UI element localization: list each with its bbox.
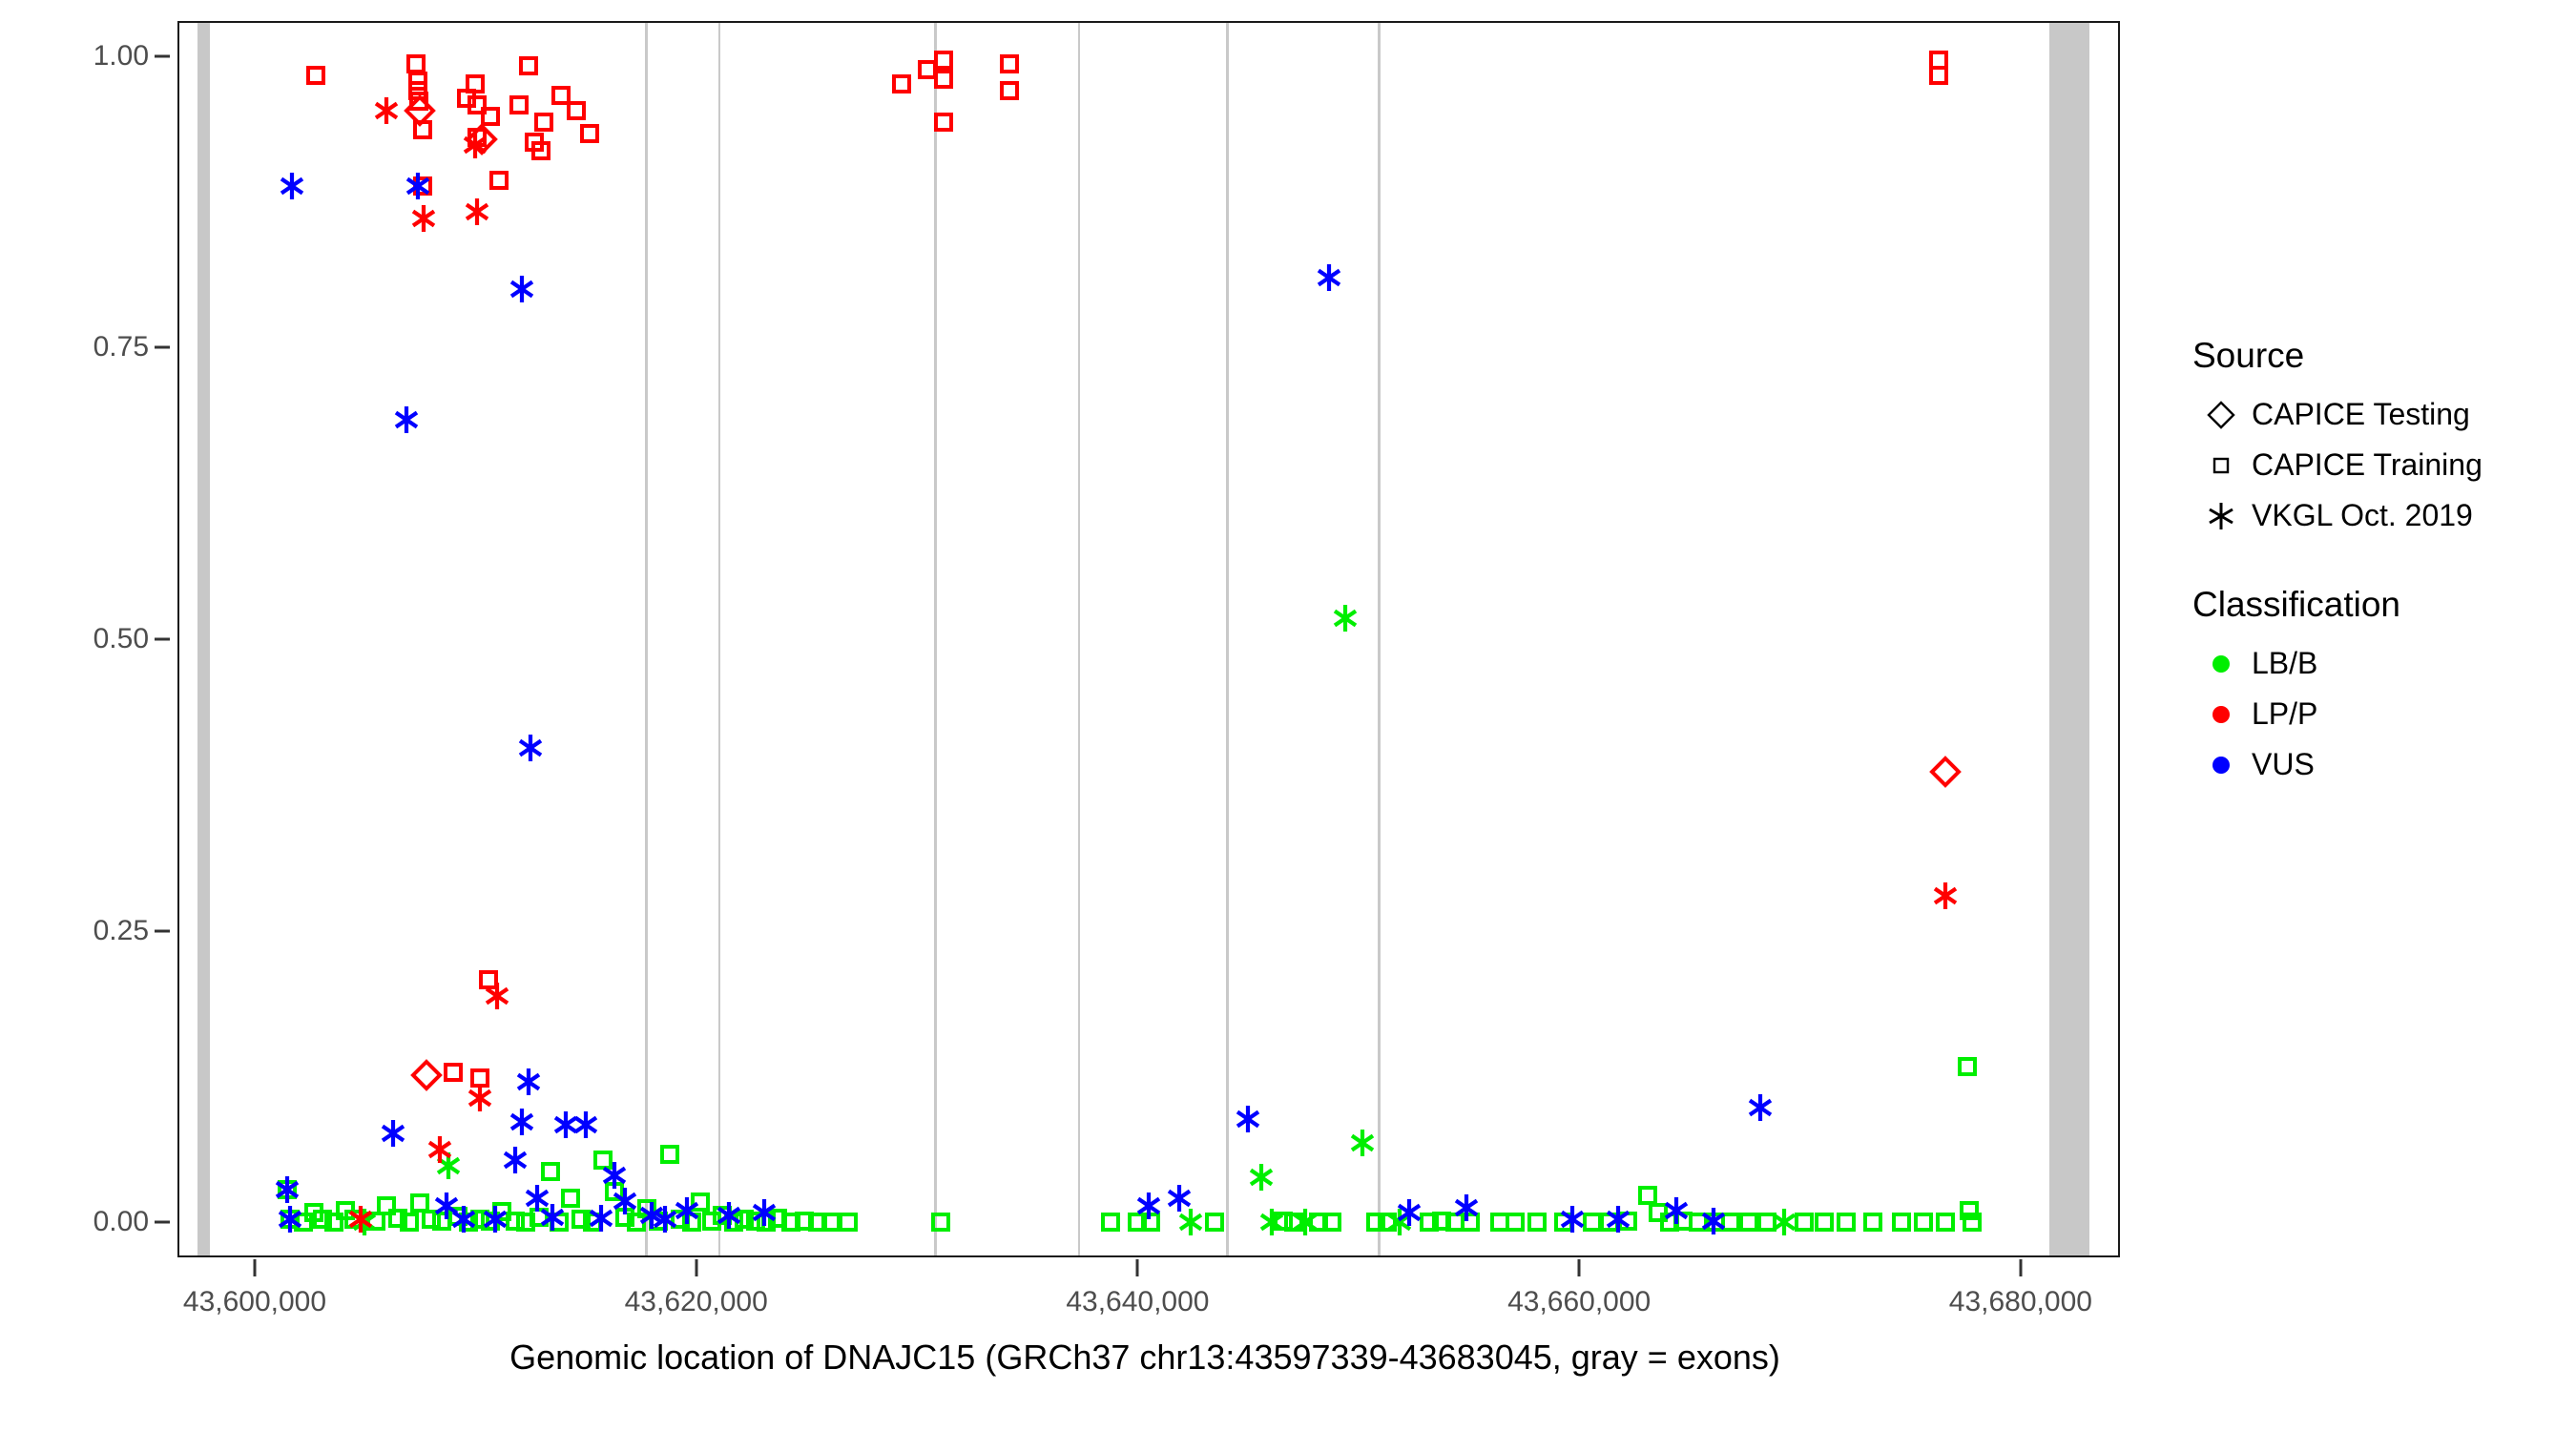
data-point <box>1443 1210 1467 1234</box>
y-tick-label: 0.50 <box>93 623 149 655</box>
data-point <box>749 1197 779 1228</box>
legend-label-capice-training: CAPICE Training <box>2252 447 2483 483</box>
y-tick-mark <box>155 1221 170 1224</box>
data-point <box>1889 1210 1914 1234</box>
data-point <box>462 197 492 227</box>
data-point <box>1580 1210 1605 1234</box>
data-point <box>657 1142 682 1167</box>
data-point <box>558 1186 583 1211</box>
data-point <box>272 1174 302 1205</box>
data-point <box>721 1210 746 1234</box>
data-point <box>1458 1210 1483 1234</box>
data-point <box>476 967 501 992</box>
data-point <box>1451 1192 1482 1223</box>
data-point <box>710 1203 735 1228</box>
data-point <box>500 1145 530 1175</box>
data-point <box>549 83 573 108</box>
circle-icon-lbb <box>2191 638 2252 689</box>
data-point <box>507 93 531 117</box>
data-point <box>1769 1207 1799 1237</box>
exon-band <box>1378 23 1381 1255</box>
data-point <box>513 1210 538 1234</box>
data-point <box>564 98 589 123</box>
legend-label-vus: VUS <box>2252 747 2315 782</box>
data-point <box>779 1210 803 1234</box>
data-point <box>467 1066 492 1090</box>
data-point <box>1503 1210 1527 1234</box>
data-point <box>599 1160 630 1191</box>
y-tick-label: 0.00 <box>93 1206 149 1238</box>
legend-item-vkgl[interactable]: VKGL Oct. 2019 <box>2191 490 2572 541</box>
data-point <box>636 1200 667 1231</box>
data-point <box>391 404 422 435</box>
data-point <box>668 1207 693 1232</box>
data-point <box>407 1191 432 1215</box>
data-point <box>404 94 436 127</box>
y-axis: CAPICE score (pathogenicity estimate) 0.… <box>0 0 177 1278</box>
data-point <box>586 1203 616 1234</box>
exon-band <box>2049 23 2090 1255</box>
data-point <box>610 1186 640 1216</box>
y-tick-mark <box>155 929 170 932</box>
legend-item-lpp[interactable]: LP/P <box>2191 689 2572 739</box>
data-point <box>1246 1162 1277 1192</box>
data-point <box>551 1110 581 1140</box>
data-point <box>1957 1198 1982 1223</box>
data-point <box>507 1107 537 1137</box>
data-point <box>591 1148 615 1172</box>
data-point <box>743 1209 768 1234</box>
data-point <box>465 125 489 150</box>
legend-item-capice-testing[interactable]: CAPICE Testing <box>2191 389 2572 440</box>
data-point <box>513 1067 544 1097</box>
data-point <box>819 1210 843 1234</box>
data-point <box>646 1209 671 1234</box>
data-point <box>419 1207 444 1232</box>
data-point <box>1202 1210 1227 1234</box>
data-point <box>482 981 512 1011</box>
data-point <box>1138 1210 1163 1234</box>
data-point <box>291 1210 316 1234</box>
exon-band <box>934 23 937 1255</box>
data-point <box>602 1179 627 1204</box>
x-tick-mark <box>2019 1259 2022 1276</box>
data-point <box>1635 1183 1660 1208</box>
legend-label-capice-testing: CAPICE Testing <box>2252 397 2470 432</box>
data-point <box>732 1207 757 1232</box>
data-point <box>1960 1210 1984 1234</box>
data-point <box>467 1207 492 1232</box>
x-tick-mark <box>695 1259 697 1276</box>
data-point <box>1686 1210 1711 1234</box>
data-point <box>410 1059 443 1091</box>
data-point <box>371 95 402 126</box>
data-point <box>478 1209 503 1234</box>
data-point <box>463 72 488 96</box>
data-point <box>1271 1209 1296 1234</box>
data-point <box>1926 63 1951 88</box>
data-point <box>1698 1206 1729 1236</box>
data-point <box>997 52 1022 76</box>
data-point <box>1525 1210 1549 1234</box>
circle-icon-lpp <box>2191 689 2252 739</box>
exon-band <box>197 23 210 1255</box>
legend-group-source: Source CAPICE Testing CAPICE Training <box>2191 336 2572 541</box>
data-point <box>650 1204 680 1234</box>
data-point <box>465 1083 495 1113</box>
data-point <box>688 1190 713 1214</box>
data-point <box>569 1207 593 1232</box>
data-point <box>405 78 430 103</box>
data-point <box>1718 1210 1743 1234</box>
data-point <box>433 1151 464 1181</box>
data-point <box>487 168 511 193</box>
data-point <box>1812 1210 1837 1234</box>
data-point <box>342 1207 366 1232</box>
data-point <box>1860 1210 1885 1234</box>
data-point <box>792 1209 817 1234</box>
x-tick-label: 43,680,000 <box>1949 1286 2092 1318</box>
data-point <box>345 1204 376 1234</box>
data-point <box>448 1204 479 1234</box>
legend-label-lpp: LP/P <box>2252 696 2317 732</box>
legend-title-classification: Classification <box>2192 585 2572 625</box>
data-point <box>1646 1200 1671 1225</box>
asterisk-icon <box>2191 490 2252 541</box>
data-point <box>310 1207 335 1232</box>
data-point <box>1603 1204 1633 1234</box>
data-point <box>1330 603 1361 633</box>
data-point <box>507 274 537 304</box>
square-icon <box>2191 440 2252 490</box>
data-point <box>1736 1210 1761 1234</box>
data-point <box>1133 1191 1164 1221</box>
data-point <box>1233 1104 1263 1134</box>
plot-panel <box>177 21 2120 1257</box>
data-point <box>1384 1207 1415 1237</box>
y-tick-mark <box>155 638 170 641</box>
x-tick-label: 43,600,000 <box>183 1286 326 1318</box>
y-tick-mark <box>155 54 170 57</box>
data-point <box>1290 1207 1320 1237</box>
data-point <box>404 52 428 76</box>
data-point <box>928 1210 953 1234</box>
data-point <box>275 1177 300 1202</box>
data-point <box>522 130 547 155</box>
legend-item-capice-training[interactable]: CAPICE Training <box>2191 440 2572 490</box>
y-tick-label: 0.25 <box>93 915 149 947</box>
data-point <box>515 733 546 763</box>
data-point <box>385 1206 410 1231</box>
data-point <box>754 1210 779 1234</box>
data-point <box>580 1210 605 1234</box>
data-point <box>1745 1092 1776 1123</box>
data-point <box>1911 1210 1936 1234</box>
data-point <box>1615 1209 1640 1234</box>
data-point <box>1319 1210 1344 1234</box>
data-point <box>1363 1210 1388 1234</box>
data-point <box>516 53 541 78</box>
x-tick-mark <box>1136 1259 1139 1276</box>
data-point <box>403 171 433 201</box>
y-tick-mark <box>155 346 170 349</box>
data-point <box>1164 1183 1195 1213</box>
data-point <box>441 1060 466 1085</box>
exon-band <box>645 23 648 1255</box>
data-point <box>571 1110 601 1140</box>
legend-item-lbb[interactable]: LB/B <box>2191 638 2572 689</box>
data-point <box>456 1210 481 1234</box>
data-point <box>278 1207 302 1232</box>
data-point <box>1792 1210 1817 1234</box>
data-point <box>889 72 914 96</box>
data-point <box>1417 1210 1442 1234</box>
data-point <box>1597 1210 1622 1234</box>
data-point <box>1394 1197 1424 1228</box>
data-point <box>489 1199 514 1224</box>
data-point <box>1314 262 1344 293</box>
data-point <box>466 123 498 156</box>
data-point <box>1429 1209 1454 1234</box>
data-point <box>480 1204 510 1234</box>
data-point <box>527 1205 551 1230</box>
data-point <box>405 69 430 93</box>
data-point <box>460 130 490 160</box>
data-point <box>333 1198 358 1223</box>
data-point <box>406 89 431 114</box>
data-point <box>397 1210 422 1234</box>
data-point <box>429 1209 454 1234</box>
data-point <box>1755 1210 1779 1234</box>
data-point <box>1347 1128 1378 1158</box>
data-point <box>503 1209 528 1234</box>
y-tick-label: 1.00 <box>93 40 149 73</box>
data-point <box>478 104 503 129</box>
x-axis-title: Genomic location of DNAJC15 (GRCh37 chr1… <box>0 1338 2290 1378</box>
data-point <box>410 117 435 142</box>
data-point <box>431 1191 462 1221</box>
data-point <box>1098 1210 1123 1234</box>
data-point <box>679 1210 704 1234</box>
data-point <box>410 174 435 198</box>
data-point <box>1487 1210 1512 1234</box>
data-point <box>529 138 553 163</box>
data-point <box>374 1193 399 1218</box>
data-point <box>531 110 556 135</box>
circle-icon-vus <box>2191 739 2252 790</box>
data-point <box>805 1210 830 1234</box>
data-point <box>378 1118 408 1149</box>
data-point <box>672 1195 702 1226</box>
data-point <box>997 78 1022 103</box>
data-point <box>537 1202 568 1233</box>
x-tick-mark <box>1578 1259 1581 1276</box>
legend-label-vkgl: VKGL Oct. 2019 <box>2252 498 2473 533</box>
data-point <box>322 1210 346 1234</box>
legend-group-classification: Classification LB/B LP/P VUS <box>2191 585 2572 790</box>
data-point <box>1933 1210 1958 1234</box>
data-point <box>1657 1210 1682 1234</box>
data-point <box>1926 48 1951 73</box>
data-point <box>364 1209 388 1234</box>
data-point <box>522 1183 552 1213</box>
data-point <box>1661 1195 1692 1226</box>
data-point <box>547 1210 571 1234</box>
data-point <box>613 1205 637 1230</box>
legend-title-source: Source <box>2192 336 2572 376</box>
data-point <box>277 171 307 201</box>
data-point <box>1929 756 1962 788</box>
exon-band <box>718 23 721 1255</box>
x-tick-mark <box>253 1259 256 1276</box>
data-point <box>1175 1207 1206 1237</box>
data-point <box>1671 1209 1695 1234</box>
plot-area <box>179 23 2118 1255</box>
data-point <box>1834 1210 1859 1234</box>
diamond-icon <box>2191 389 2252 440</box>
exon-band <box>1078 23 1081 1255</box>
data-point <box>465 93 489 117</box>
data-point <box>1955 1054 1980 1079</box>
data-point <box>408 203 439 234</box>
data-point <box>1257 1207 1287 1237</box>
legend-label-lbb: LB/B <box>2252 646 2317 681</box>
y-tick-label: 0.75 <box>93 331 149 363</box>
data-point <box>425 1134 455 1165</box>
data-point <box>1306 1210 1331 1234</box>
data-point <box>349 1207 380 1237</box>
data-point <box>1930 881 1961 911</box>
chart-root: CAPICE score (pathogenicity estimate) 0.… <box>0 0 2576 1431</box>
data-point <box>765 1206 790 1231</box>
data-point <box>577 121 602 146</box>
data-point <box>454 86 479 111</box>
data-point <box>301 1200 326 1225</box>
data-point <box>275 1204 305 1234</box>
data-point <box>303 63 328 88</box>
x-tick-label: 43,660,000 <box>1507 1286 1651 1318</box>
data-point <box>538 1159 563 1184</box>
legend: Source CAPICE Testing CAPICE Training <box>2191 336 2572 834</box>
data-point <box>1551 1210 1576 1234</box>
data-point <box>836 1210 861 1234</box>
data-point <box>1703 1210 1728 1234</box>
legend-item-vus[interactable]: VUS <box>2191 739 2572 790</box>
exon-band <box>1226 23 1229 1255</box>
data-point <box>1557 1204 1588 1234</box>
data-point <box>1281 1210 1306 1234</box>
data-point <box>446 1204 470 1229</box>
data-point <box>1125 1210 1150 1234</box>
x-tick-label: 43,640,000 <box>1066 1286 1209 1318</box>
x-tick-label: 43,620,000 <box>625 1286 768 1318</box>
